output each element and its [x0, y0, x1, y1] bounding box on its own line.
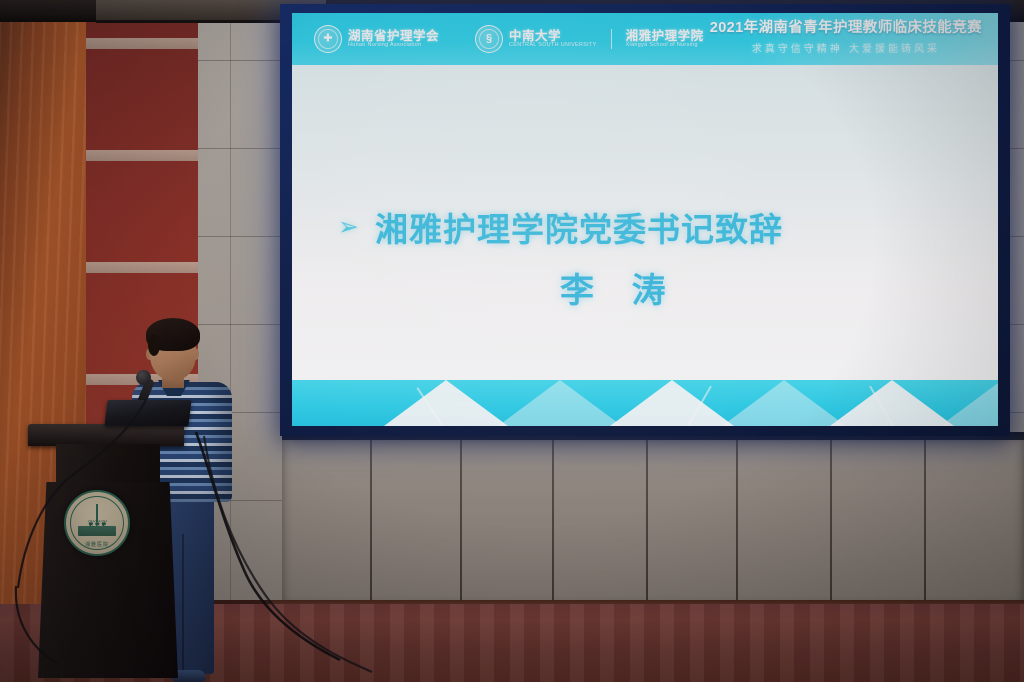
org-central-south-university: § 中南大学 CENTRAL SOUTH UNIVERSITY 湘雅护理学院 X… [475, 25, 704, 53]
microphone-head-icon [136, 370, 151, 385]
event-title-block: 2021年湖南省青年护理教师临床技能竞赛 求真守信守精神 大爱援能铸风采 [710, 16, 982, 55]
org-hunan-nursing-association: ✚ 湖南省护理学会 Hunan Nursing Association [314, 25, 439, 53]
podium-neck [56, 444, 160, 486]
slide-heading: 湘雅护理学院党委书记致辞 [375, 203, 783, 251]
org-name-cn: 湖南省护理学会 [348, 30, 439, 43]
bullet-arrow-icon: ➢ [338, 215, 359, 240]
laptop-on-podium [104, 400, 191, 426]
slide-footer-decoration [292, 380, 998, 426]
podium-top-surface [28, 424, 184, 446]
slide-body: ➢ 湘雅护理学院党委书记致辞 李 涛 [292, 65, 998, 426]
hunan-nursing-association-logo: ✚ [314, 25, 342, 53]
hospital-crest-emblem: ❦❦❦ 湘雅医院 [64, 490, 130, 556]
org-name-en: Xiangya School of Nursing [626, 43, 704, 49]
event-subtitle: 求真守信守精神 大爱援能铸风采 [710, 40, 982, 55]
projection-screen-frame: ✚ 湖南省护理学会 Hunan Nursing Association § 中南… [280, 4, 1010, 436]
event-title: 2021年湖南省青年护理教师临床技能竞赛 [710, 16, 982, 37]
logo-divider [611, 29, 612, 49]
projection-screen: ✚ 湖南省护理学会 Hunan Nursing Association § 中南… [292, 13, 998, 426]
slide-banner: ✚ 湖南省护理学会 Hunan Nursing Association § 中南… [292, 13, 998, 65]
org-name-en: CENTRAL SOUTH UNIVERSITY [509, 43, 597, 49]
org-name-cn: 中南大学 [509, 30, 597, 43]
stage-cabinet-panels [282, 440, 1024, 610]
slide-speaker-name: 李 涛 [560, 263, 679, 312]
speaker-hair [146, 318, 200, 351]
slide-bullet-row: ➢ 湘雅护理学院党委书记致辞 [338, 203, 783, 251]
emblem-caption: 湘雅医院 [85, 541, 109, 548]
central-south-university-logo: § [475, 25, 503, 53]
presentation-photo-scene: ✚ 湖南省护理学会 Hunan Nursing Association § 中南… [0, 0, 1024, 682]
org-name-cn: 湘雅护理学院 [626, 30, 704, 43]
org-name-en: Hunan Nursing Association [348, 43, 439, 49]
